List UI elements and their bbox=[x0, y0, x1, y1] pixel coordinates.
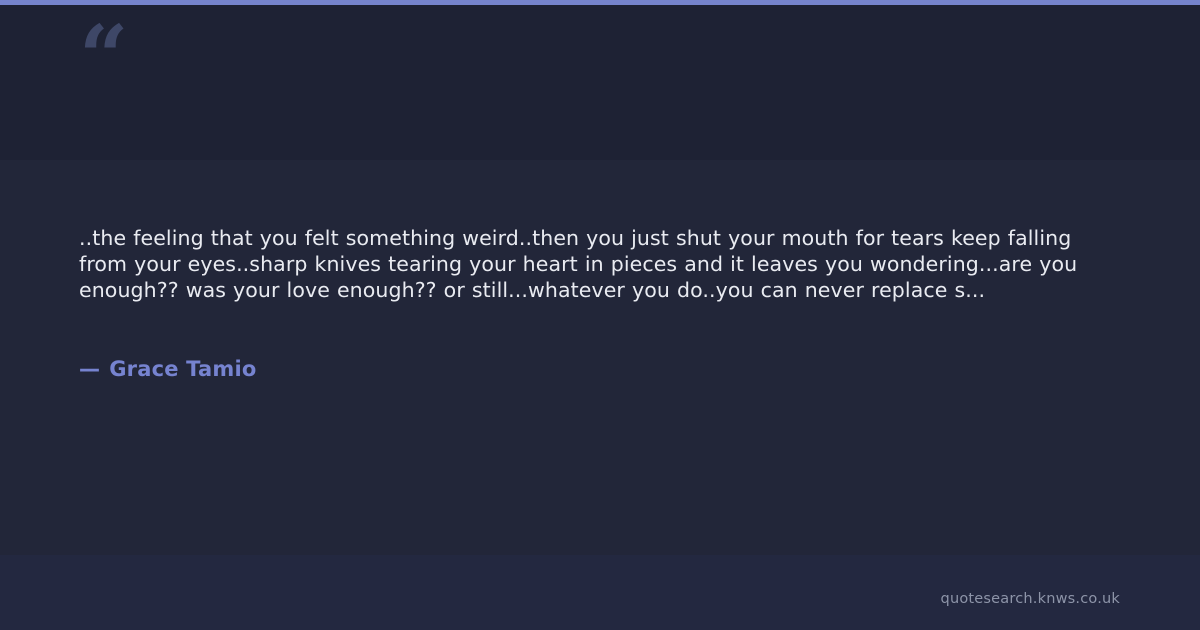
quote-card: “ ..the feeling that you felt something … bbox=[0, 5, 1200, 630]
quote-text: ..the feeling that you felt something we… bbox=[79, 225, 1109, 303]
quote-attribution: —Grace Tamio bbox=[79, 357, 256, 381]
author-name: Grace Tamio bbox=[109, 357, 256, 381]
em-dash-icon: — bbox=[79, 357, 100, 381]
site-watermark: quotesearch.knws.co.uk bbox=[941, 591, 1120, 607]
open-quote-icon: “ bbox=[79, 15, 126, 101]
quote-card-page: { "theme": { "background": "#1e2234", "b… bbox=[0, 0, 1200, 630]
